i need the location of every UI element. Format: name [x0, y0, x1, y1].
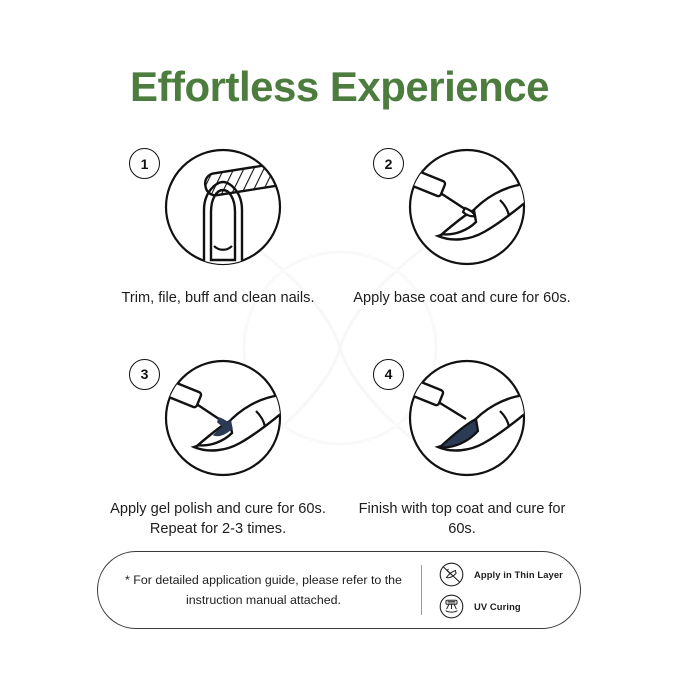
uv-lamp-icon — [439, 594, 464, 619]
step-3-illustration-wrap: 3 — [150, 355, 286, 491]
top-coat-brush-icon — [408, 359, 526, 477]
step-item-2: 2 — [340, 144, 584, 309]
page-title: Effortless Experience — [0, 64, 679, 110]
steps-container: 1 — [96, 144, 584, 540]
step-item-3: 3 — [96, 355, 340, 540]
footer-note-box: * For detailed application guide, please… — [97, 551, 581, 629]
footer-icon-label-thin-layer: Apply in Thin Layer — [474, 569, 563, 580]
step-item-1: 1 — [96, 144, 340, 309]
steps-row-1: 1 — [96, 144, 584, 309]
step-2-number-badge: 2 — [373, 148, 404, 179]
step-4-caption: Finish with top coat and cure for 60s. — [350, 499, 575, 540]
step-1-illustration-wrap: 1 — [150, 144, 286, 280]
footer-icon-label-uv-curing: UV Curing — [474, 601, 521, 612]
thin-layer-icon — [439, 562, 464, 587]
step-2-illustration-wrap: 2 — [394, 144, 530, 280]
nail-file-icon — [164, 148, 282, 266]
footer-note-text: * For detailed application guide, please… — [98, 570, 421, 610]
step-1-number-badge: 1 — [129, 148, 160, 179]
step-2-caption: Apply base coat and cure for 60s. — [350, 288, 575, 309]
step-3-number-badge: 3 — [129, 359, 160, 390]
footer-icon-list: Apply in Thin Layer UV Curing — [422, 562, 580, 619]
step-4-number-badge: 4 — [373, 359, 404, 390]
steps-row-2: 3 — [96, 355, 584, 540]
base-coat-brush-icon — [408, 148, 526, 266]
step-item-4: 4 Fi — [340, 355, 584, 540]
footer-icon-item-uv-curing: UV Curing — [439, 594, 580, 619]
step-1-caption: Trim, file, buff and clean nails. — [106, 288, 331, 309]
gel-polish-brush-icon — [164, 359, 282, 477]
step-4-illustration-wrap: 4 — [394, 355, 530, 491]
footer-icon-item-thin-layer: Apply in Thin Layer — [439, 562, 580, 587]
infographic-page: Effortless Experience 1 — [0, 0, 679, 679]
step-3-caption: Apply gel polish and cure for 60s. Repea… — [106, 499, 331, 540]
